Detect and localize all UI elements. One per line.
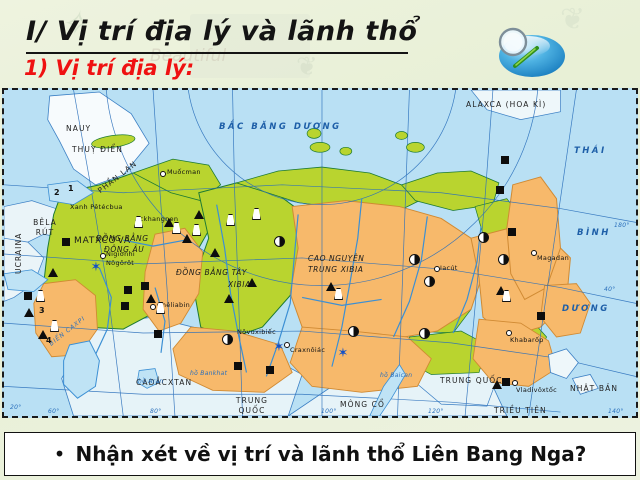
map-marker-2[interactable]: 2 <box>54 188 60 197</box>
resource-symbol-square <box>62 238 70 246</box>
resource-symbol-halfcircle <box>222 334 233 345</box>
map-city-label: Magadan <box>537 254 569 262</box>
map-country-label: THUỴ ĐIỂN <box>72 145 123 154</box>
slide-root: ✧ Beautiful ❦ ❦ I/ Vị trí địa lý và lãnh… <box>0 0 640 480</box>
resource-symbol-triangle <box>194 210 204 219</box>
resource-symbol-halfcircle <box>274 236 285 247</box>
map-graphics <box>4 90 636 416</box>
map-city-label: Nôvuxibiếc <box>237 328 276 336</box>
resource-symbol-triangle <box>210 248 220 257</box>
grid-label-180: 180° <box>614 222 630 229</box>
resource-symbol-square <box>121 302 129 310</box>
question-box: • Nhận xét về vị trí và lãnh thổ Liên Ba… <box>4 432 636 476</box>
map-ocean-label: DƯƠNG <box>562 304 610 314</box>
question-text: Nhận xét về vị trí và lãnh thổ Liên Bang… <box>75 442 586 466</box>
page-title: I/ Vị trí địa lý và lãnh thổ <box>26 16 417 47</box>
map-city-label: Nigiơnhi <box>106 250 135 258</box>
resource-symbol-square <box>266 366 274 374</box>
resource-symbol-triangle <box>224 294 234 303</box>
map-marker-3[interactable]: 3 <box>39 306 45 315</box>
resource-symbol-triangle <box>247 278 257 287</box>
resource-symbol-square <box>496 186 504 194</box>
map-city-label: Muốcman <box>167 168 201 176</box>
map-city-label: Vladivôxtốc <box>516 386 557 394</box>
map-capital-label: MATXCƠVA <box>74 236 131 246</box>
map-country-label: NAUY <box>66 124 91 133</box>
map-country-label: TRIỀU TIÊN <box>494 406 547 415</box>
resource-symbol-halfcircle <box>348 326 359 337</box>
resource-symbol-star: ✶ <box>273 342 285 354</box>
map-marker-1[interactable]: 1 <box>68 184 74 193</box>
grid-label-100: 100° <box>321 408 337 415</box>
city-dot <box>160 171 166 177</box>
globe-magnifier-icon <box>485 24 575 80</box>
resource-symbol-triangle <box>326 282 336 291</box>
resource-symbol-triangle <box>24 308 34 317</box>
page-subtitle: 1) Vị trí địa lý: <box>24 56 194 80</box>
resource-symbol-triangle <box>182 234 192 243</box>
resource-symbol-halfcircle <box>409 254 420 265</box>
map-country-label: TRUNG QUỐC <box>232 396 272 416</box>
map-water-label: hồ Aran <box>138 378 164 385</box>
resource-symbol-halfcircle <box>478 232 489 243</box>
map-country-label: MÔNG CỔ <box>340 400 385 409</box>
map-city-label: Nôgôrôt <box>106 259 134 267</box>
resource-symbol-halfcircle <box>498 254 509 265</box>
slide-header: ✧ Beautiful ❦ ❦ I/ Vị trí địa lý và lãnh… <box>0 0 640 88</box>
map-city-label: Khabarốp <box>510 336 544 344</box>
grid-label-60: 60° <box>48 408 60 415</box>
russia-physical-map[interactable]: BẮC BĂNG DƯƠNG THÁI BÌNH DƯƠNG NAUY THUỴ… <box>2 88 638 418</box>
map-water-label: hồ Bankhat <box>190 370 227 377</box>
map-city-label: Iacút <box>440 264 458 272</box>
map-water-label: hồ Baican <box>380 372 412 379</box>
map-country-label: UCRAINA <box>14 233 23 274</box>
resource-symbol-triangle <box>492 380 502 389</box>
resource-symbol-square <box>124 286 132 294</box>
resource-symbol-triangle <box>164 218 174 227</box>
resource-symbol-halfcircle <box>419 328 430 339</box>
resource-symbol-square <box>501 156 509 164</box>
map-region-label: TRUNG XIBIA <box>308 265 364 274</box>
map-country-label: BÊLA RÚT <box>28 218 62 238</box>
map-ocean-label: BÌNH <box>577 228 611 238</box>
map-ocean-label: BẮC BĂNG DƯƠNG <box>219 122 342 132</box>
map-country-label: NHẬT BẢN <box>570 384 618 393</box>
grid-label-20: 20° <box>10 404 22 411</box>
grid-label-140: 140° <box>608 408 624 415</box>
title-underline <box>26 52 408 54</box>
resource-symbol-square <box>508 228 516 236</box>
resource-symbol-square <box>234 362 242 370</box>
resource-symbol-square <box>502 378 510 386</box>
map-city-label: Craxnôiác <box>290 346 325 354</box>
map-city-label: Xanh Pêtécbua <box>70 203 123 211</box>
resource-symbol-triangle <box>146 294 156 303</box>
resource-symbol-square <box>537 312 545 320</box>
resource-symbol-square <box>154 330 162 338</box>
map-region-label: ĐỒNG BẰNG TÂY <box>176 268 247 277</box>
watermark-flourish-icon: ❦ <box>296 52 318 82</box>
resource-symbol-square <box>24 292 32 300</box>
resource-symbol-star: ✶ <box>337 348 349 360</box>
bullet-icon: • <box>54 442 66 466</box>
resource-symbol-triangle <box>38 330 48 339</box>
resource-symbol-square <box>141 282 149 290</box>
grid-label-120: 120° <box>428 408 444 415</box>
grid-label-40: 40° <box>604 286 616 293</box>
map-ocean-label: THÁI <box>574 146 607 156</box>
resource-symbol-triangle <box>48 268 58 277</box>
resource-symbol-halfcircle <box>424 276 435 287</box>
grid-label-80: 80° <box>150 408 162 415</box>
city-dot <box>150 304 156 310</box>
map-region-label: CAO NGUYÊN <box>308 254 365 263</box>
resource-symbol-star: ✶ <box>90 262 102 274</box>
map-country-label: ALAXCA (HOA KÌ) <box>466 100 546 109</box>
